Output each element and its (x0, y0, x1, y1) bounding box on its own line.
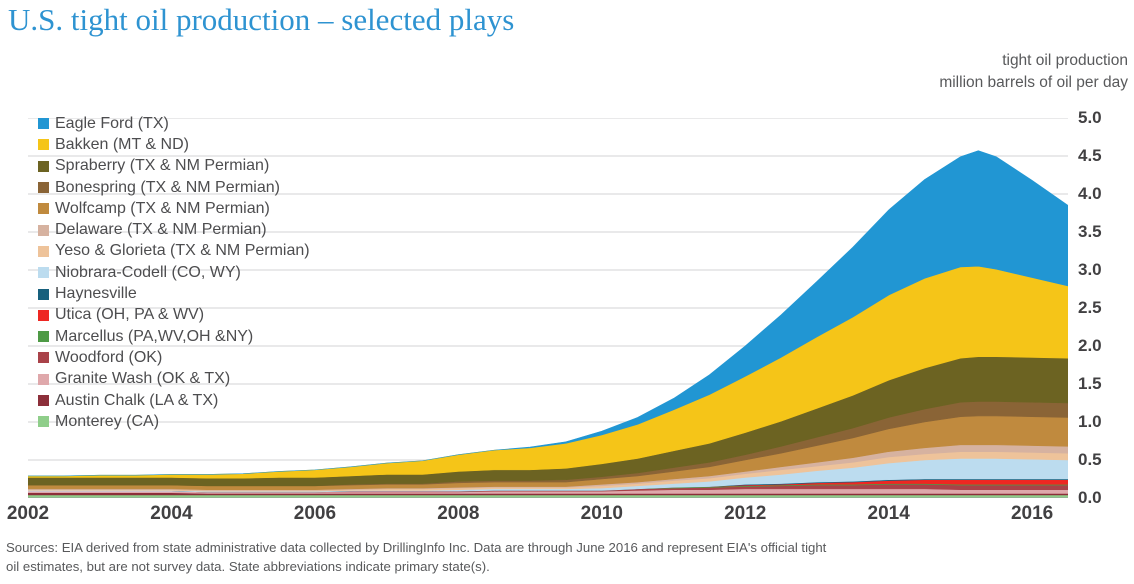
legend-item-label: Granite Wash (OK & TX) (55, 371, 230, 387)
legend-color-swatch (38, 267, 49, 278)
legend-color-swatch (38, 310, 49, 321)
legend-color-swatch (38, 246, 49, 257)
chart-page: U.S. tight oil production – selected pla… (0, 0, 1134, 584)
y-axis-tick-label: 3.5 (1078, 222, 1102, 242)
x-axis-tick-label: 2012 (724, 503, 766, 525)
legend-item[interactable]: Spraberry (TX & NM Permian) (38, 156, 310, 177)
legend-item[interactable]: Marcellus (PA,WV,OH &NY) (38, 326, 310, 347)
legend-item-label: Eagle Ford (TX) (55, 116, 169, 132)
legend-item-label: Bakken (MT & ND) (55, 137, 189, 153)
legend-color-swatch (38, 331, 49, 342)
legend-item-label: Austin Chalk (LA & TX) (55, 393, 218, 409)
y-axis-tick-label: 2.0 (1078, 336, 1102, 356)
legend-color-swatch (38, 139, 49, 150)
legend-item-label: Haynesville (55, 286, 137, 302)
y-axis-tick-label: 4.5 (1078, 146, 1102, 166)
x-axis-tick-label: 2002 (7, 503, 49, 525)
chart-legend: Eagle Ford (TX)Bakken (MT & ND)Spraberry… (38, 113, 310, 432)
x-axis-tick-label: 2014 (868, 503, 910, 525)
source-note-line2: oil estimates, but are not survey data. … (6, 557, 1130, 576)
legend-item[interactable]: Austin Chalk (LA & TX) (38, 390, 310, 411)
legend-item[interactable]: Monterey (CA) (38, 411, 310, 432)
legend-item-label: Woodford (OK) (55, 350, 162, 366)
source-note-line1: Sources: EIA derived from state administ… (6, 538, 1130, 557)
legend-color-swatch (38, 118, 49, 129)
x-axis-tick-label: 2016 (1011, 503, 1053, 525)
legend-item[interactable]: Granite Wash (OK & TX) (38, 369, 310, 390)
legend-item-label: Monterey (CA) (55, 414, 159, 430)
legend-color-swatch (38, 203, 49, 214)
legend-color-swatch (38, 161, 49, 172)
legend-item-label: Delaware (TX & NM Permian) (55, 222, 267, 238)
legend-color-swatch (38, 395, 49, 406)
y-axis-tick-label: 0.5 (1078, 450, 1102, 470)
legend-item-label: Niobrara-Codell (CO, WY) (55, 265, 241, 281)
legend-color-swatch (38, 289, 49, 300)
legend-item[interactable]: Niobrara-Codell (CO, WY) (38, 262, 310, 283)
legend-item-label: Marcellus (PA,WV,OH &NY) (55, 329, 253, 345)
y-axis-tick-label: 5.0 (1078, 108, 1102, 128)
legend-item[interactable]: Woodford (OK) (38, 347, 310, 368)
legend-color-swatch (38, 182, 49, 193)
y-axis-tick-label: 1.0 (1078, 412, 1102, 432)
axis-caption-line2: million barrels of oil per day (939, 72, 1128, 94)
legend-item[interactable]: Wolfcamp (TX & NM Permian) (38, 198, 310, 219)
legend-item-label: Yeso & Glorieta (TX & NM Permian) (55, 243, 310, 259)
y-axis-tick-label: 1.5 (1078, 374, 1102, 394)
axis-caption-line1: tight oil production (939, 50, 1128, 72)
legend-item-label: Wolfcamp (TX & NM Permian) (55, 201, 270, 217)
legend-item[interactable]: Yeso & Glorieta (TX & NM Permian) (38, 241, 310, 262)
legend-item-label: Spraberry (TX & NM Permian) (55, 158, 269, 174)
x-axis-tick-label: 2010 (581, 503, 623, 525)
legend-color-swatch (38, 416, 49, 427)
legend-color-swatch (38, 352, 49, 363)
x-axis-tick-label: 2006 (294, 503, 336, 525)
y-axis-tick-label: 2.5 (1078, 298, 1102, 318)
source-note: Sources: EIA derived from state administ… (6, 538, 1130, 576)
legend-item[interactable]: Bonespring (TX & NM Permian) (38, 177, 310, 198)
legend-item[interactable]: Delaware (TX & NM Permian) (38, 219, 310, 240)
legend-item[interactable]: Eagle Ford (TX) (38, 113, 310, 134)
x-axis-labels: 20022004200620082010201220142016 (0, 503, 1134, 533)
legend-item-label: Utica (OH, PA & WV) (55, 307, 204, 323)
legend-item[interactable]: Haynesville (38, 283, 310, 304)
page-title: U.S. tight oil production – selected pla… (8, 2, 514, 38)
y-axis-tick-label: 4.0 (1078, 184, 1102, 204)
legend-color-swatch (38, 225, 49, 236)
legend-item[interactable]: Utica (OH, PA & WV) (38, 305, 310, 326)
legend-item-label: Bonespring (TX & NM Permian) (55, 180, 280, 196)
legend-color-swatch (38, 374, 49, 385)
y-axis-labels: 0.00.51.01.52.02.53.03.54.04.55.0 (1078, 118, 1134, 498)
legend-item[interactable]: Bakken (MT & ND) (38, 134, 310, 155)
axis-caption: tight oil production million barrels of … (939, 50, 1128, 94)
x-axis-tick-label: 2004 (150, 503, 192, 525)
y-axis-tick-label: 3.0 (1078, 260, 1102, 280)
x-axis-tick-label: 2008 (437, 503, 479, 525)
